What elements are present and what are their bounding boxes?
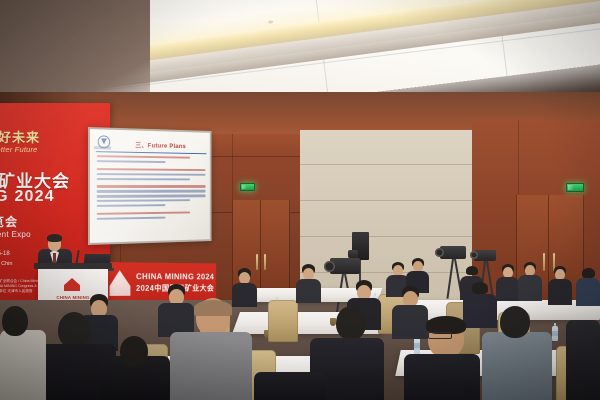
presenter-hair [47, 234, 62, 242]
attendee-torso [404, 354, 480, 400]
attendee-hair [194, 300, 232, 316]
attendee-head [472, 282, 488, 294]
ceiling-downlight [268, 20, 273, 24]
slide-divider [96, 151, 207, 154]
camera-lens-icon [435, 248, 444, 257]
attendee-torso [392, 305, 428, 339]
eyeglasses-icon [428, 332, 452, 339]
camera-lens-icon [324, 261, 335, 272]
attendee-torso [566, 320, 600, 400]
banner-date: 10.15-18 [0, 251, 10, 257]
conference-hall-photo: 共创美好未来 ion for a Better Future 国际矿业大会 NI… [0, 0, 600, 400]
exit-sign [566, 183, 584, 192]
camera-lens-icon [470, 251, 478, 259]
projection-screen: 三、Future Plans [88, 127, 212, 245]
slide-surface: 三、Future Plans [90, 129, 210, 243]
banner-city: anjin Chin [0, 261, 12, 267]
slide-body-text [97, 155, 206, 222]
attendee-head [336, 306, 366, 340]
attendee-torso [463, 294, 497, 328]
attendee-head [120, 336, 148, 366]
camera-viewfinder [348, 250, 358, 258]
attendee-torso [296, 279, 321, 303]
attendee-head [58, 312, 90, 348]
lectern-top [34, 263, 112, 269]
attendee-torso [482, 332, 552, 400]
attendee-torso [254, 372, 326, 400]
attendee-torso [496, 277, 519, 301]
stage-banner-english: CHINA MINING 2024 [136, 271, 214, 281]
attendee-torso [0, 330, 46, 400]
exit-sign [240, 183, 255, 191]
attendee-head [2, 306, 28, 336]
attendee-head [500, 306, 530, 338]
attendee-head [466, 266, 478, 275]
attendee-torso [170, 332, 252, 400]
attendee-torso [518, 275, 542, 301]
slide-title: 三、Future Plans [115, 139, 205, 151]
attendee-torso [232, 283, 257, 307]
attendee-head [582, 268, 595, 278]
water-bottle [552, 326, 558, 341]
china-mining-logo-icon [64, 278, 80, 293]
chair [268, 300, 298, 342]
china-mining-association-logo-icon [94, 133, 111, 150]
china-mining-logo-icon [110, 270, 131, 296]
attendee-torso [576, 278, 600, 306]
attendee-torso [548, 279, 572, 305]
